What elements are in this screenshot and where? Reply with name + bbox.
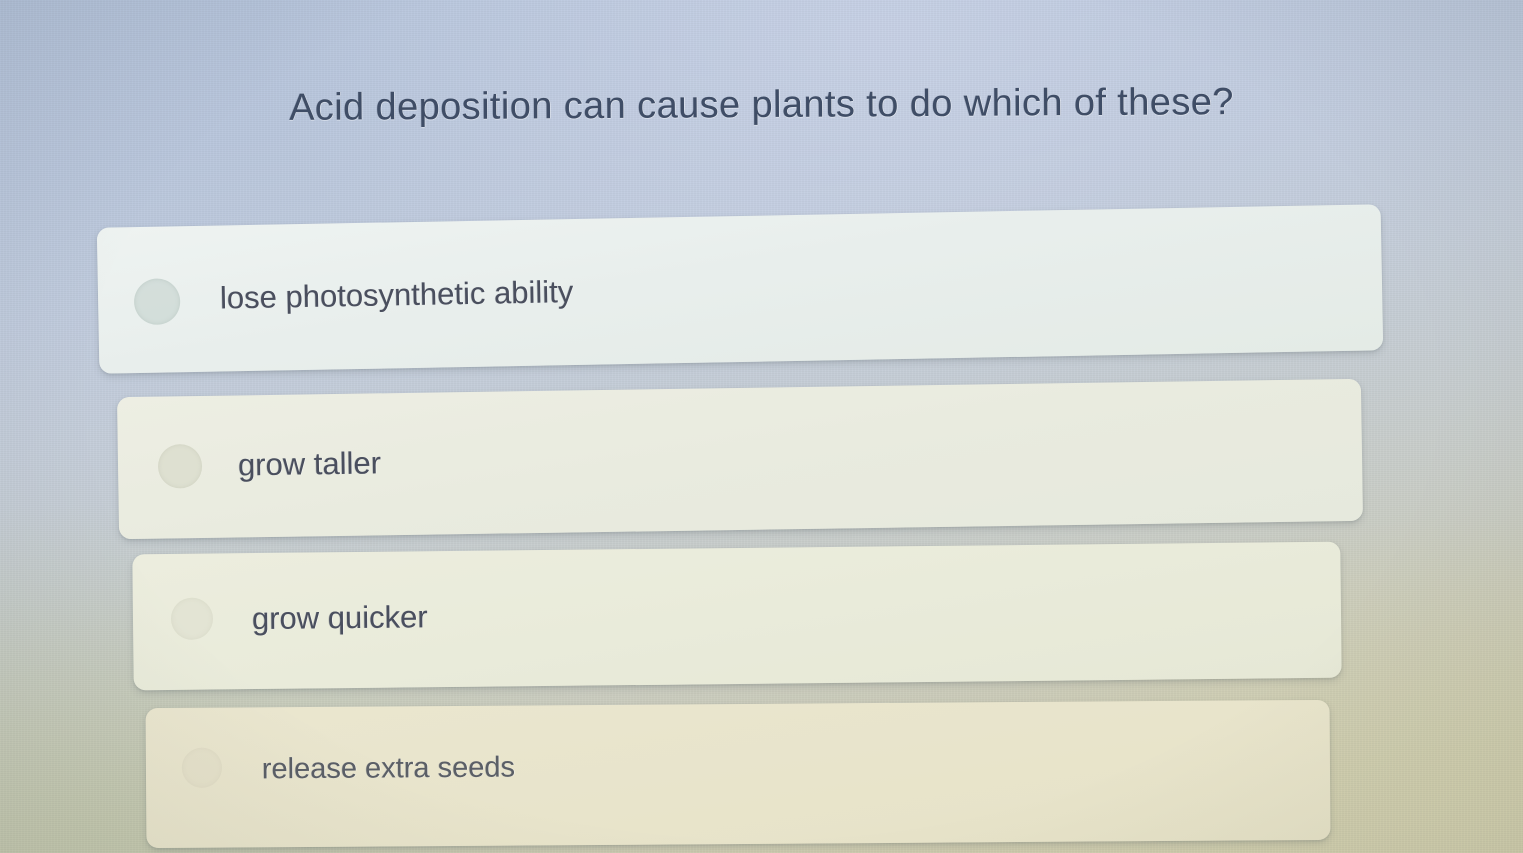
answer-option-2[interactable]: grow taller	[117, 379, 1363, 539]
answer-option-label: lose photosynthetic ability	[220, 274, 574, 316]
radio-button-icon[interactable]	[182, 748, 222, 788]
answer-option-3[interactable]: grow quicker	[132, 542, 1341, 691]
answer-option-label: grow taller	[238, 445, 382, 483]
answer-option-4[interactable]: release extra seeds	[146, 700, 1331, 848]
answer-option-label: release extra seeds	[262, 750, 515, 788]
quiz-screen: Acid deposition can cause plants to do w…	[0, 0, 1523, 853]
radio-button-icon[interactable]	[134, 278, 181, 325]
radio-button-icon[interactable]	[171, 597, 213, 639]
answer-option-label: grow quicker	[252, 599, 428, 637]
answer-option-1[interactable]: lose photosynthetic ability	[97, 204, 1383, 374]
radio-button-icon[interactable]	[158, 444, 203, 489]
question-text: Acid deposition can cause plants to do w…	[0, 77, 1523, 132]
